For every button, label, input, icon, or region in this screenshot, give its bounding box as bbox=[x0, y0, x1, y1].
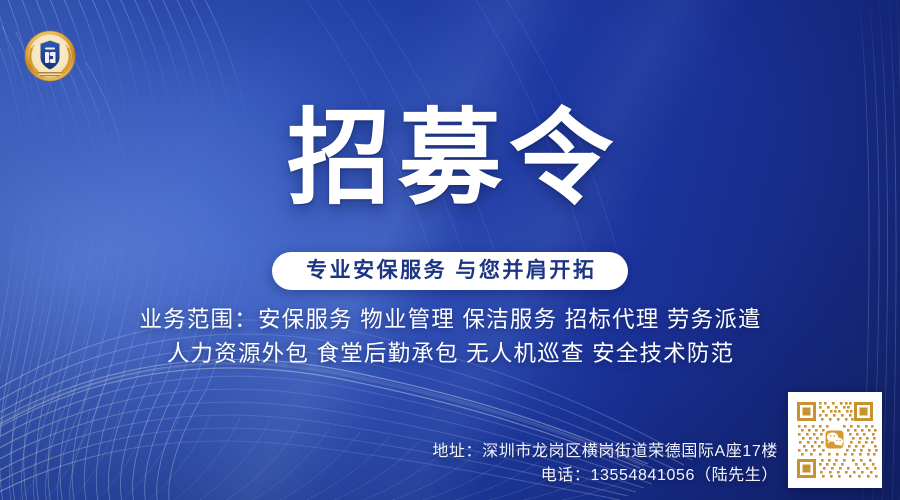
phone-line: 电话：13554841056（陆先生） bbox=[432, 464, 778, 488]
background-sheen bbox=[0, 0, 900, 500]
subtitle-pill-container: 专业安保服务 与您并肩开拓 bbox=[0, 252, 900, 290]
recruitment-poster: 招募令 专业安保服务 与您并肩开拓 业务范围：安保服务 物业管理 保洁服务 招标… bbox=[0, 0, 900, 500]
business-scope: 业务范围：安保服务 物业管理 保洁服务 招标代理 劳务派遣 人力资源外包 食堂后… bbox=[0, 303, 900, 371]
wechat-qr-code[interactable] bbox=[788, 392, 882, 488]
qr-code-icon bbox=[788, 392, 882, 488]
emblem-icon bbox=[22, 28, 78, 84]
company-logo bbox=[22, 28, 78, 84]
poster-title: 招募令 bbox=[0, 101, 900, 217]
subtitle-pill: 专业安保服务 与您并肩开拓 bbox=[272, 252, 629, 290]
contact-info: 地址：深圳市龙岗区横岗街道荣德国际A座17楼 电话：13554841056（陆先… bbox=[432, 440, 778, 488]
scope-line-2: 人力资源外包 食堂后勤承包 无人机巡查 安全技术防范 bbox=[0, 337, 900, 371]
address-line: 地址：深圳市龙岗区横岗街道荣德国际A座17楼 bbox=[432, 440, 778, 464]
scope-line-1: 业务范围：安保服务 物业管理 保洁服务 招标代理 劳务派遣 bbox=[0, 303, 900, 337]
